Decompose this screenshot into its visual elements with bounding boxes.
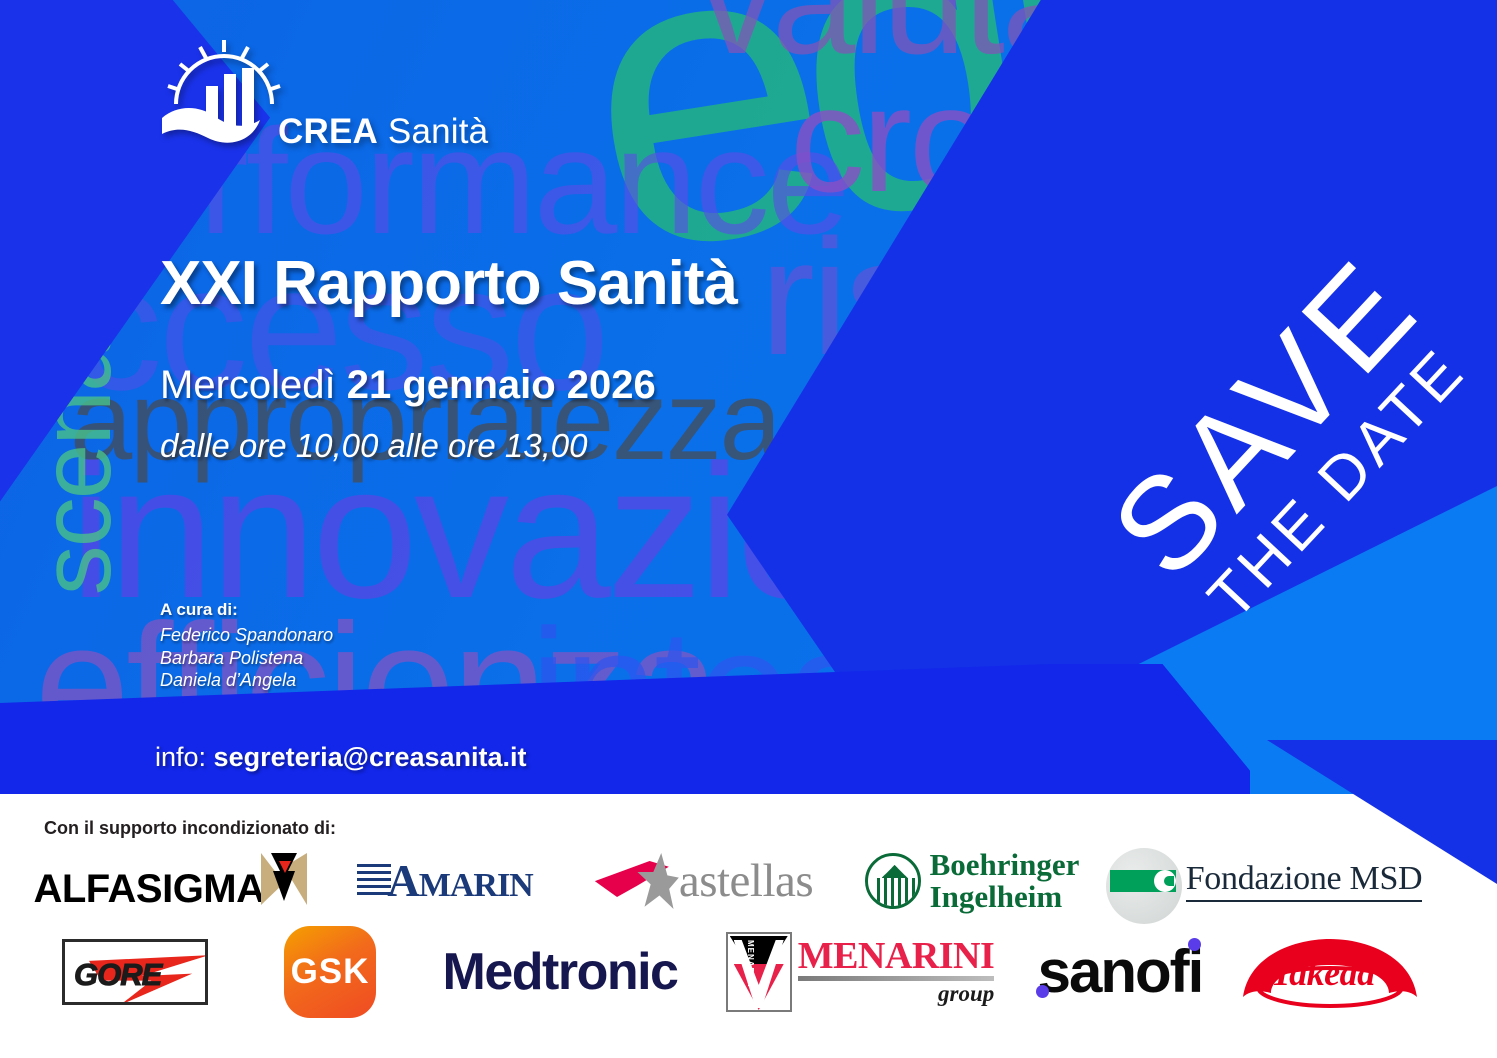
astellas-wordmark: astellas <box>679 854 813 908</box>
gsk-wordmark: GSK <box>291 952 370 992</box>
contact-info-label: info: <box>155 742 214 772</box>
gore-wordmark: GORE <box>74 957 161 993</box>
sponsor-logo-sanofi[interactable]: sanofi <box>1010 932 1230 1012</box>
menarini-line1: MENARINI <box>798 939 995 974</box>
list-item: Federico Spandonaro <box>160 624 333 647</box>
sponsor-logo-boehringer-ingelheim[interactable]: Boehringer Ingelheim <box>838 846 1106 916</box>
msd-wordmark: Fondazione MSD <box>1186 860 1423 902</box>
boehringer-crest-icon <box>865 853 921 909</box>
amarin-wordmark: AMARIN <box>387 855 532 907</box>
sanofi-wordmark: sanofi <box>1038 942 1203 1002</box>
sponsor-row-2: GORE GSK Medtronic MENARINI <box>20 932 1480 1012</box>
amarin-bars-icon <box>357 864 391 898</box>
sponsor-logo-fondazione-msd[interactable]: Fondazione MSD <box>1106 846 1426 916</box>
event-date: Mercoledì 21 gennaio 2026 <box>160 363 656 408</box>
sponsor-logo-astellas[interactable]: astellas <box>570 846 838 916</box>
sponsor-logo-medtronic[interactable]: Medtronic <box>410 932 710 1012</box>
contact-info[interactable]: info: segreteria@creasanita.it <box>155 742 527 773</box>
menarini-m-icon: MENARINI <box>726 932 792 1012</box>
astellas-star-icon <box>595 853 683 909</box>
save-the-date-poster: equità performance accesso valutazione c… <box>0 0 1497 1058</box>
page-title: XXI Rapporto Sanità <box>160 248 737 319</box>
msd-bar-icon <box>1110 870 1176 892</box>
list-item: Daniela d’Angela <box>160 669 333 692</box>
logo-wordmark-bold: CREA <box>278 112 378 151</box>
sponsor-logo-gore[interactable]: GORE <box>20 932 250 1012</box>
logo-wordmark: CREA Sanità <box>278 112 488 152</box>
event-date-prefix: Mercoledì <box>160 363 347 407</box>
sponsor-logo-menarini[interactable]: MENARINI MENARINI group <box>710 932 1010 1012</box>
boehringer-line2: Ingelheim <box>930 881 1080 913</box>
sponsor-logo-gsk[interactable]: GSK <box>250 932 410 1012</box>
crea-sanita-logo[interactable]: CREA Sanità <box>160 38 500 158</box>
gore-badge: GORE <box>62 939 208 1005</box>
credits-block: A cura di: Federico Spandonaro Barbara P… <box>160 600 333 692</box>
crea-sanita-sun-bars-wave-logo <box>160 38 290 153</box>
boehringer-wordmark: Boehringer Ingelheim <box>930 849 1080 912</box>
sponsor-row-1: ALFASIGMA AMARIN astellas <box>20 846 1480 916</box>
sanofi-dot-lower-icon <box>1036 985 1049 998</box>
menarini-line2: group <box>798 982 995 1005</box>
support-label: Con il supporto incondizionato di: <box>44 818 336 839</box>
boehringer-line1: Boehringer <box>930 849 1080 881</box>
medtronic-wordmark: Medtronic <box>443 943 678 1001</box>
amarin-wordmark-small: MARIN <box>419 867 533 904</box>
credits-label: A cura di: <box>160 600 333 620</box>
credits-list: Federico Spandonaro Barbara Polistena Da… <box>160 624 333 692</box>
sponsor-logo-amarin[interactable]: AMARIN <box>320 846 570 916</box>
hero-banner: equità performance accesso valutazione c… <box>0 0 1497 794</box>
list-item: Barbara Polistena <box>160 647 333 670</box>
event-date-value: 21 gennaio 2026 <box>347 363 656 407</box>
sponsor-logo-takeda[interactable]: Takeda <box>1230 932 1430 1012</box>
sponsor-logo-alfasigma[interactable]: ALFASIGMA <box>20 846 320 916</box>
sponsor-footer: Con il supporto incondizionato di: ALFAS… <box>0 794 1497 1058</box>
takeda-wordmark: Takeda <box>1271 952 1375 994</box>
event-time: dalle ore 10,00 alle ore 13,00 <box>160 427 588 465</box>
contact-email[interactable]: segreteria@creasanita.it <box>214 742 527 772</box>
logo-wordmark-light: Sanità <box>378 112 488 151</box>
alfasigma-wordmark: ALFASIGMA <box>33 869 264 909</box>
alfasigma-triangle-icon <box>261 853 307 905</box>
gsk-tile: GSK <box>284 926 376 1018</box>
menarini-mark-label: MENARINI <box>746 940 755 988</box>
menarini-wordmark: MENARINI group <box>798 939 995 1005</box>
